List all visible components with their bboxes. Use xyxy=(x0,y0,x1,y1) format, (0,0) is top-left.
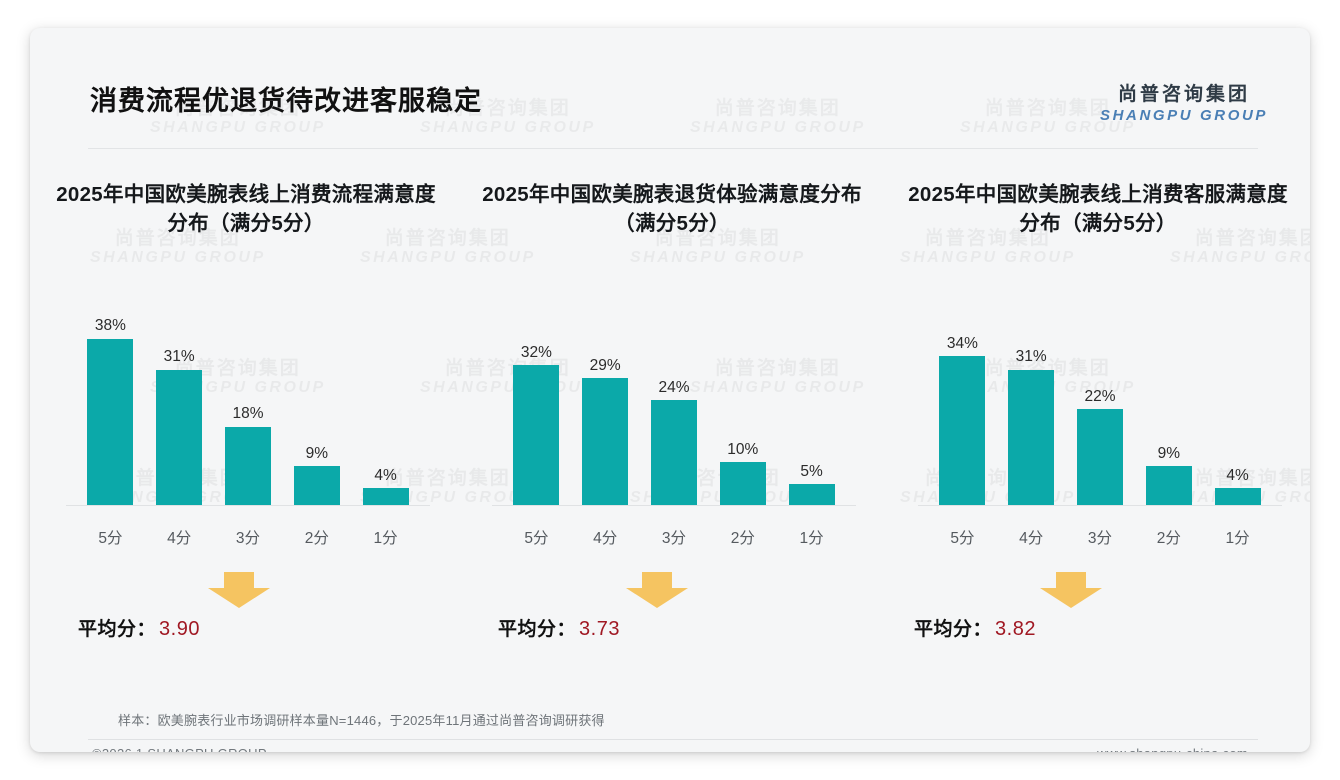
x-axis-tick-label: 5分 xyxy=(928,531,997,547)
bar-value-label: 9% xyxy=(1158,446,1180,462)
bar xyxy=(363,488,409,506)
average-score-block-1: 平均分：3.90 xyxy=(50,572,442,652)
bar-slot: 38% xyxy=(76,300,145,506)
bar-slot: 24% xyxy=(640,300,709,506)
bar-slot: 31% xyxy=(997,300,1066,506)
logo-chinese-text: 尚普咨询集团 xyxy=(1100,84,1268,106)
brand-logo: 尚普咨询集团 SHANGPU GROUP xyxy=(1100,84,1268,124)
chart-title-1: 2025年中国欧美腕表线上消费流程满意度分布（满分5分） xyxy=(50,180,442,242)
bar-value-label: 4% xyxy=(374,468,396,484)
bar-group-1: 38%31%18%9%4% xyxy=(76,300,420,506)
slide-header: 消费流程优退货待改进客服稳定 尚普咨询集团 SHANGPU GROUP xyxy=(30,28,1310,120)
bar-value-label: 22% xyxy=(1084,389,1115,405)
bar-slot: 22% xyxy=(1066,300,1135,506)
x-axis-tick-label: 3分 xyxy=(1066,531,1135,547)
footnote: 样本：欧美腕表行业市场调研样本量N=1446，于2025年11月通过尚普咨询调研… xyxy=(118,710,605,729)
x-axis-tick-label: 1分 xyxy=(351,531,420,547)
bar-slot: 29% xyxy=(571,300,640,506)
bar-slot: 9% xyxy=(1134,300,1203,506)
bar-value-label: 9% xyxy=(306,446,328,462)
bar-chart-3: 34%31%22%9%4% 5分4分3分2分1分 xyxy=(902,274,1294,554)
bar xyxy=(513,365,559,506)
bar xyxy=(225,427,271,506)
bar xyxy=(939,356,985,506)
bar-value-label: 29% xyxy=(590,358,621,374)
slide-card: 尚普咨询集团SHANGPU GROUP尚普咨询集团SHANGPU GROUP尚普… xyxy=(30,28,1310,752)
bar-value-label: 24% xyxy=(658,380,689,396)
bar xyxy=(720,462,766,506)
x-axis-line-1 xyxy=(66,505,430,506)
chart-title-2: 2025年中国欧美腕表退货体验满意度分布（满分5分） xyxy=(476,180,868,242)
bar-value-label: 5% xyxy=(800,464,822,480)
bar-value-label: 18% xyxy=(232,406,263,422)
down-arrow-icon xyxy=(208,572,270,608)
x-axis-tick-label: 2分 xyxy=(1134,531,1203,547)
average-score-value-2: 3.73 xyxy=(579,618,620,640)
bar-slot: 31% xyxy=(145,300,214,506)
page-title: 消费流程优退货待改进客服稳定 xyxy=(90,88,482,115)
down-arrow-icon xyxy=(626,572,688,608)
bar-group-2: 32%29%24%10%5% xyxy=(502,300,846,506)
bar xyxy=(1077,409,1123,506)
average-score-text-3: 平均分：3.82 xyxy=(914,614,1036,641)
charts-row: 2025年中国欧美腕表线上消费流程满意度分布（满分5分） 38%31%18%9%… xyxy=(30,180,1310,652)
bar-slot: 10% xyxy=(708,300,777,506)
bar-chart-2: 32%29%24%10%5% 5分4分3分2分1分 xyxy=(476,274,868,554)
bar-value-label: 34% xyxy=(947,336,978,352)
bar-value-label: 38% xyxy=(95,318,126,334)
chart-panel-1: 2025年中国欧美腕表线上消费流程满意度分布（满分5分） 38%31%18%9%… xyxy=(40,180,452,652)
x-axis-tick-label: 2分 xyxy=(282,531,351,547)
x-axis-tick-label: 4分 xyxy=(571,531,640,547)
x-axis-tick-label: 4分 xyxy=(145,531,214,547)
down-arrow-icon xyxy=(1040,572,1102,608)
bar-value-label: 10% xyxy=(727,442,758,458)
x-axis-tick-label: 5分 xyxy=(502,531,571,547)
bar-value-label: 32% xyxy=(521,345,552,361)
bar xyxy=(582,378,628,506)
bar-value-label: 4% xyxy=(1226,468,1248,484)
x-axis-tick-label: 1分 xyxy=(1203,531,1272,547)
copyright-text: ©2026.1 SHANGPU GROUP xyxy=(92,746,267,752)
chart-title-3: 2025年中国欧美腕表线上消费客服满意度分布（满分5分） xyxy=(902,180,1294,242)
bar xyxy=(156,370,202,506)
bar-value-label: 31% xyxy=(1016,349,1047,365)
average-score-text-1: 平均分：3.90 xyxy=(78,614,200,641)
bar xyxy=(87,339,133,506)
average-score-block-3: 平均分：3.82 xyxy=(902,572,1294,652)
bar xyxy=(789,484,835,506)
bar-group-3: 34%31%22%9%4% xyxy=(928,300,1272,506)
chart-panel-2: 2025年中国欧美腕表退货体验满意度分布（满分5分） 32%29%24%10%5… xyxy=(466,180,878,652)
x-axis-tick-label: 5分 xyxy=(76,531,145,547)
average-score-block-2: 平均分：3.73 xyxy=(476,572,868,652)
slide-footer: ©2026.1 SHANGPU GROUP www.shangpu-china.… xyxy=(30,746,1310,752)
bar-slot: 18% xyxy=(214,300,283,506)
average-score-label-2: 平均分： xyxy=(498,619,576,640)
average-score-value-3: 3.82 xyxy=(995,618,1036,640)
bar-chart-1: 38%31%18%9%4% 5分4分3分2分1分 xyxy=(50,274,442,554)
average-score-value-1: 3.90 xyxy=(159,618,200,640)
average-score-text-2: 平均分：3.73 xyxy=(498,614,620,641)
bar xyxy=(294,466,340,506)
x-axis-tick-label: 3分 xyxy=(214,531,283,547)
bar xyxy=(1008,370,1054,506)
bar xyxy=(651,400,697,506)
logo-english-text: SHANGPU GROUP xyxy=(1100,107,1268,124)
bar-slot: 4% xyxy=(351,300,420,506)
x-axis-tick-label: 3分 xyxy=(640,531,709,547)
bar-slot: 9% xyxy=(282,300,351,506)
x-axis-labels-2: 5分4分3分2分1分 xyxy=(502,531,846,547)
bar-slot: 5% xyxy=(777,300,846,506)
x-axis-tick-label: 1分 xyxy=(777,531,846,547)
header-divider xyxy=(88,148,1258,149)
average-score-label-1: 平均分： xyxy=(78,619,156,640)
website-link[interactable]: www.shangpu-china.com xyxy=(1097,746,1248,752)
x-axis-tick-label: 2分 xyxy=(708,531,777,547)
x-axis-line-3 xyxy=(918,505,1282,506)
bar-slot: 34% xyxy=(928,300,997,506)
footer-divider xyxy=(88,739,1258,740)
bar-slot: 32% xyxy=(502,300,571,506)
average-score-label-3: 平均分： xyxy=(914,619,992,640)
x-axis-line-2 xyxy=(492,505,856,506)
bar xyxy=(1215,488,1261,506)
bar xyxy=(1146,466,1192,506)
bar-value-label: 31% xyxy=(164,349,195,365)
chart-panel-3: 2025年中国欧美腕表线上消费客服满意度分布（满分5分） 34%31%22%9%… xyxy=(892,180,1304,652)
bar-slot: 4% xyxy=(1203,300,1272,506)
x-axis-tick-label: 4分 xyxy=(997,531,1066,547)
x-axis-labels-1: 5分4分3分2分1分 xyxy=(76,531,420,547)
x-axis-labels-3: 5分4分3分2分1分 xyxy=(928,531,1272,547)
